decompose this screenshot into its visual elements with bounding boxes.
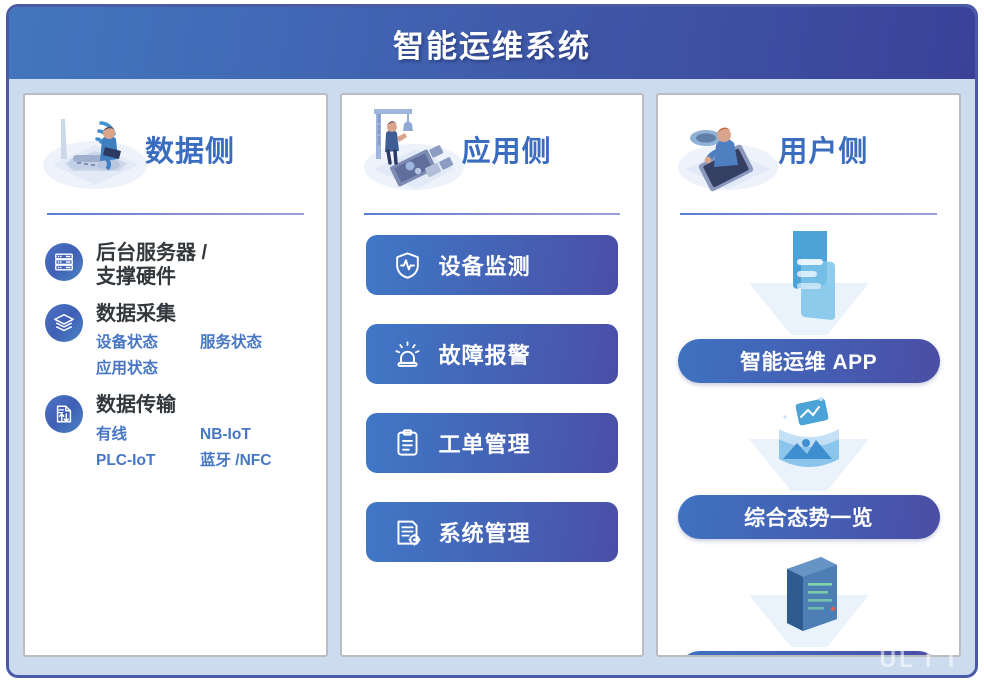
column-header-data-side: 数据侧 [25,95,326,203]
server-rack-icon [45,243,83,281]
divider-application-side [364,213,621,215]
shield-pulse-icon [392,250,423,281]
list-item-label: 后台服务器 / 支撑硬件 [96,241,207,290]
list-item-label: 数据采集 [96,302,304,326]
button-device-monitoring[interactable]: 设备监测 [366,235,619,295]
list-item[interactable]: 数据传输 有线 NB-IoT PLC-IoT 蓝牙 /NFC [45,393,326,472]
list-item-sublabels: 设备状态 服务状态 应用状态 [96,331,304,381]
list-item-label: 数据传输 [96,393,304,417]
watermark-label: UL I T [880,646,961,673]
button-label: 系统管理 [439,516,531,548]
page-title: 智能运维系统 [393,21,591,66]
sub-label: 应用状态 [96,357,200,381]
list-item-text: 后台服务器 / 支撑硬件 [96,241,207,290]
column-title-user-side: 用户侧 [778,128,868,170]
dashboard-panorama-icon [709,387,909,499]
divider-user-side [680,213,937,215]
data-transfer-icon [45,395,83,433]
sub-label: 设备状态 [96,331,200,355]
user-side-pill-list: 智能运维 APP [658,203,959,657]
crane-tablet-person-illustration [356,103,468,195]
pill-label: 智能运维 APP [740,346,877,376]
pill-label: 综合态势一览 [744,502,873,532]
button-system-management[interactable]: 系统管理 [366,502,619,562]
column-header-application-side: 应用侧 [342,95,643,203]
list-item[interactable]: 数据采集 设备状态 服务状态 应用状态 [45,302,326,381]
clipboard-icon [392,428,423,459]
header-bar: 智能运维系统 [9,7,975,79]
column-user-side: 用户侧 智能运 [656,93,961,657]
application-side-button-list: 设备监测 故障报警 [342,203,643,562]
button-label: 故障报警 [439,338,531,370]
server-tower-icon [709,543,909,655]
pill-group-app: 智能运维 APP [658,231,959,383]
column-application-side: 应用侧 设备监测 [340,93,645,657]
alarm-light-icon [392,339,423,370]
list-item-text: 数据传输 有线 NB-IoT PLC-IoT 蓝牙 /NFC [96,393,304,472]
layers-stack-icon [45,304,83,342]
button-work-order-management[interactable]: 工单管理 [366,413,619,473]
button-fault-alarm[interactable]: 故障报警 [366,324,619,384]
divider-data-side [47,213,304,215]
sub-label: 服务状态 [200,331,304,355]
sub-label: PLC-IoT [96,449,200,473]
sub-label: 有线 [96,423,200,447]
column-data-side: 数据侧 [23,93,328,657]
button-label: 设备监测 [439,249,531,281]
columns-container: 数据侧 [9,79,975,675]
column-title-application-side: 应用侧 [462,128,552,170]
list-item-sublabels: 有线 NB-IoT PLC-IoT 蓝牙 /NFC [96,423,304,473]
tablet-person-illustration [672,103,784,195]
pill-smart-ops-app[interactable]: 智能运维 APP [678,339,940,383]
pill-group-situation: 综合态势一览 [658,387,959,539]
button-label: 工单管理 [439,427,531,459]
sub-label: 蓝牙 /NFC [200,449,304,473]
column-header-user-side: 用户侧 [658,95,959,203]
column-title-data-side: 数据侧 [145,128,235,170]
router-wifi-person-illustration [39,103,151,195]
pill-situation-overview[interactable]: 综合态势一览 [678,495,940,539]
mobile-app-icon [709,231,909,343]
data-side-item-list: 后台服务器 / 支撑硬件 数据采集 [25,203,326,473]
diagram-frame: 智能运维系统 [6,4,978,678]
document-gear-icon [392,517,423,548]
sub-label: NB-IoT [200,423,304,447]
list-item-text: 数据采集 设备状态 服务状态 应用状态 [96,302,304,381]
list-item[interactable]: 后台服务器 / 支撑硬件 [45,241,326,290]
pill-group-web: WEB 管理平台 [658,543,959,657]
